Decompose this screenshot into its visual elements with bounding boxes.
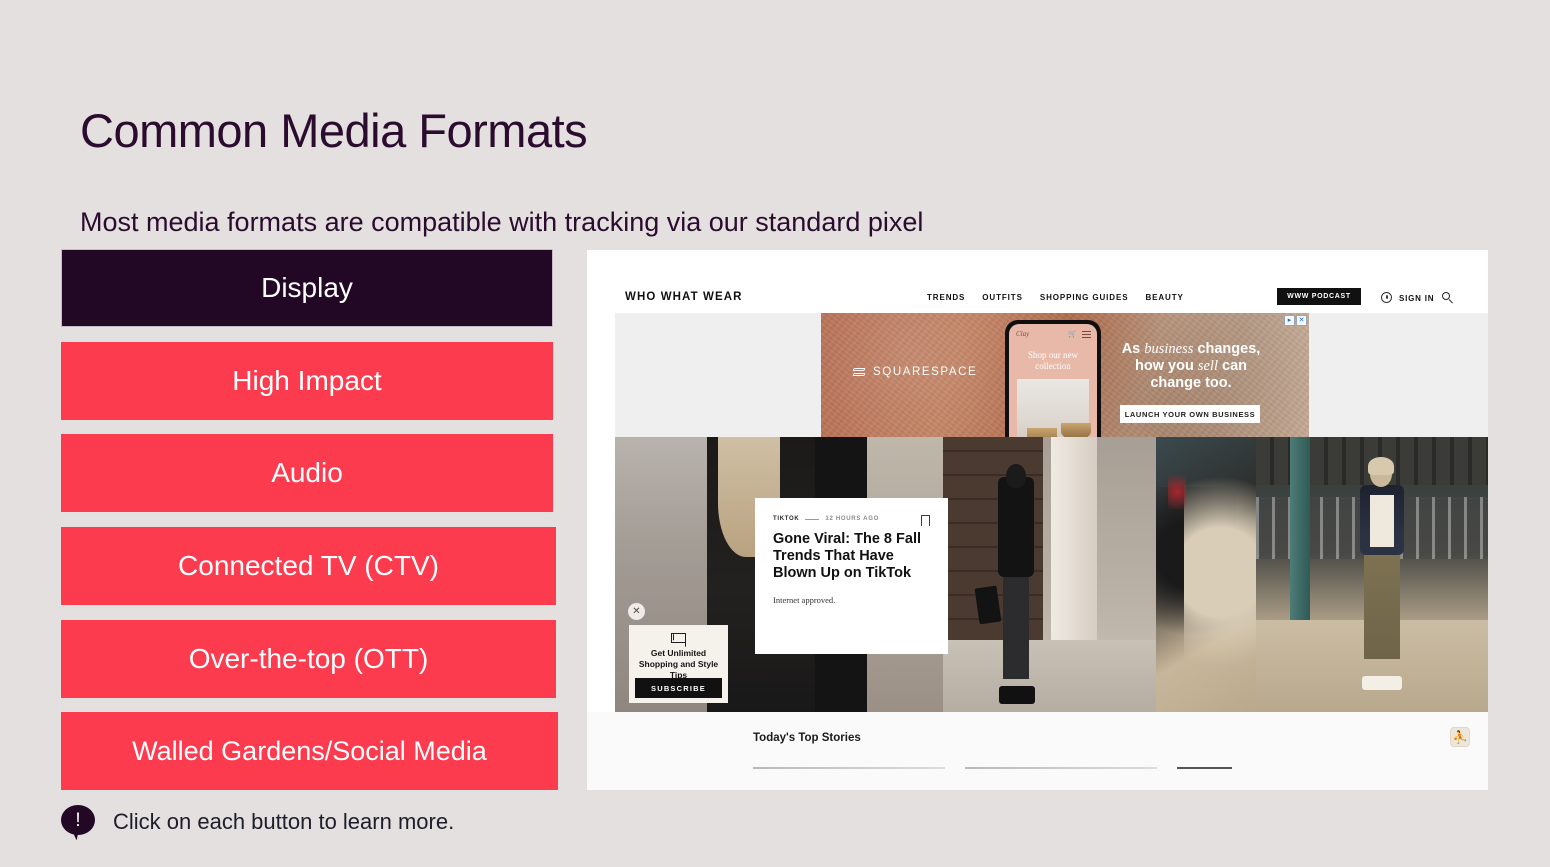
article-timestamp: 12 HOURS AGO xyxy=(825,516,879,522)
ad-headline: As business changes, how you sell can ch… xyxy=(1091,341,1291,392)
phone-headline-line-1: Shop our new xyxy=(1009,350,1097,361)
phone-headline: Shop our new collection xyxy=(1009,350,1097,372)
format-button-over-the-top[interactable]: Over-the-top (OTT) xyxy=(61,620,556,698)
hint-row: ! Click on each button to learn more. xyxy=(61,805,454,839)
nav-link-trends[interactable]: TRENDS xyxy=(927,293,965,302)
site-logo[interactable]: WHO WHAT WEAR xyxy=(625,291,743,303)
ad-headline-line-3: change too. xyxy=(1091,375,1291,392)
ad-headline-em-sell: sell xyxy=(1198,358,1218,374)
newsletter-popup: ✕ Get Unlimited Shopping and Style Tips … xyxy=(629,625,728,703)
phone-menu-icon xyxy=(1082,331,1091,340)
article-card[interactable]: TIKTOK 12 HOURS AGO Gone Viral: The 8 Fa… xyxy=(755,498,948,654)
website-preview-card: WHO WHAT WEAR TRENDS OUTFITS SHOPPING GU… xyxy=(587,250,1488,790)
story-placeholder-3 xyxy=(1177,767,1232,769)
speech-bubble-exclamation-icon: ! xyxy=(61,805,97,839)
nav-link-beauty[interactable]: BEAUTY xyxy=(1145,293,1183,302)
story-placeholder-2 xyxy=(965,767,1157,769)
top-stories-title: Today's Top Stories xyxy=(753,732,861,744)
accessibility-icon[interactable]: ⛹ xyxy=(1450,727,1470,747)
nav-link-outfits[interactable]: OUTFITS xyxy=(982,293,1023,302)
ad-cta-button[interactable]: LAUNCH YOUR OWN BUSINESS xyxy=(1120,405,1260,423)
phone-headline-line-2: collection xyxy=(1009,361,1097,372)
phone-cart-icon: 🛒 xyxy=(1068,330,1077,338)
site-header: WHO WHAT WEAR TRENDS OUTFITS SHOPPING GU… xyxy=(587,250,1488,313)
nav-link-shopping-guides[interactable]: SHOPPING GUIDES xyxy=(1040,293,1129,302)
envelope-icon xyxy=(671,633,686,643)
account-icon[interactable] xyxy=(1381,292,1392,303)
ad-band: SQUARESPACE Clay 🛒 Shop our new collecti… xyxy=(615,313,1488,437)
search-icon[interactable] xyxy=(1442,292,1454,304)
article-headline: Gone Viral: The 8 Fall Trends That Have … xyxy=(773,531,930,582)
article-category: TIKTOK xyxy=(773,516,799,522)
close-icon[interactable]: ✕ xyxy=(628,603,645,620)
photo-tile-4[interactable] xyxy=(1256,437,1488,712)
newsletter-title: Get Unlimited Shopping and Style Tips xyxy=(635,648,722,681)
meta-dash xyxy=(805,519,819,520)
format-button-walled-gardens[interactable]: Walled Gardens/Social Media xyxy=(61,712,558,790)
phone-product-photo xyxy=(1017,379,1089,437)
photo-tile-3[interactable] xyxy=(1156,437,1256,712)
page-title: Common Media Formats xyxy=(80,103,587,158)
sign-in-link[interactable]: SIGN IN xyxy=(1399,294,1434,303)
article-dek: Internet approved. xyxy=(773,595,930,605)
ad-brand-name: SQUARESPACE xyxy=(873,366,977,378)
ad-brand-row: SQUARESPACE xyxy=(852,365,977,379)
ad-phone-mockup: Clay 🛒 Shop our new collection xyxy=(1005,320,1101,437)
photo-tile-2[interactable] xyxy=(943,437,1156,712)
photo-strip xyxy=(615,437,1488,712)
subscribe-button[interactable]: SUBSCRIBE xyxy=(635,678,722,698)
site-nav: TRENDS OUTFITS SHOPPING GUIDES BEAUTY xyxy=(927,293,1184,302)
squarespace-logo-icon xyxy=(852,365,866,379)
ad-headline-line-1: As business changes, xyxy=(1091,341,1291,358)
podcast-button[interactable]: WWW PODCAST xyxy=(1277,288,1361,305)
squarespace-ad-creative[interactable]: SQUARESPACE Clay 🛒 Shop our new collecti… xyxy=(821,313,1309,437)
adchoices-icon[interactable]: ▸✕ xyxy=(1284,315,1307,326)
slide-canvas: Common Media Formats Most media formats … xyxy=(0,0,1550,867)
format-button-connected-tv[interactable]: Connected TV (CTV) xyxy=(61,527,556,605)
phone-brand-label: Clay xyxy=(1016,330,1029,338)
page-subtitle: Most media formats are compatible with t… xyxy=(80,207,923,238)
article-meta: TIKTOK 12 HOURS AGO xyxy=(773,516,930,522)
story-placeholder-1 xyxy=(753,767,945,769)
bookmark-icon[interactable] xyxy=(921,515,930,526)
format-button-audio[interactable]: Audio xyxy=(61,434,553,512)
ad-headline-em-business: business xyxy=(1144,341,1193,357)
top-stories-section: Today's Top Stories ⛹ xyxy=(587,712,1488,790)
ad-headline-line-2: how you sell can xyxy=(1091,358,1291,375)
format-button-display[interactable]: Display xyxy=(61,249,553,327)
format-button-high-impact[interactable]: High Impact xyxy=(61,342,553,420)
hint-text: Click on each button to learn more. xyxy=(113,809,454,835)
